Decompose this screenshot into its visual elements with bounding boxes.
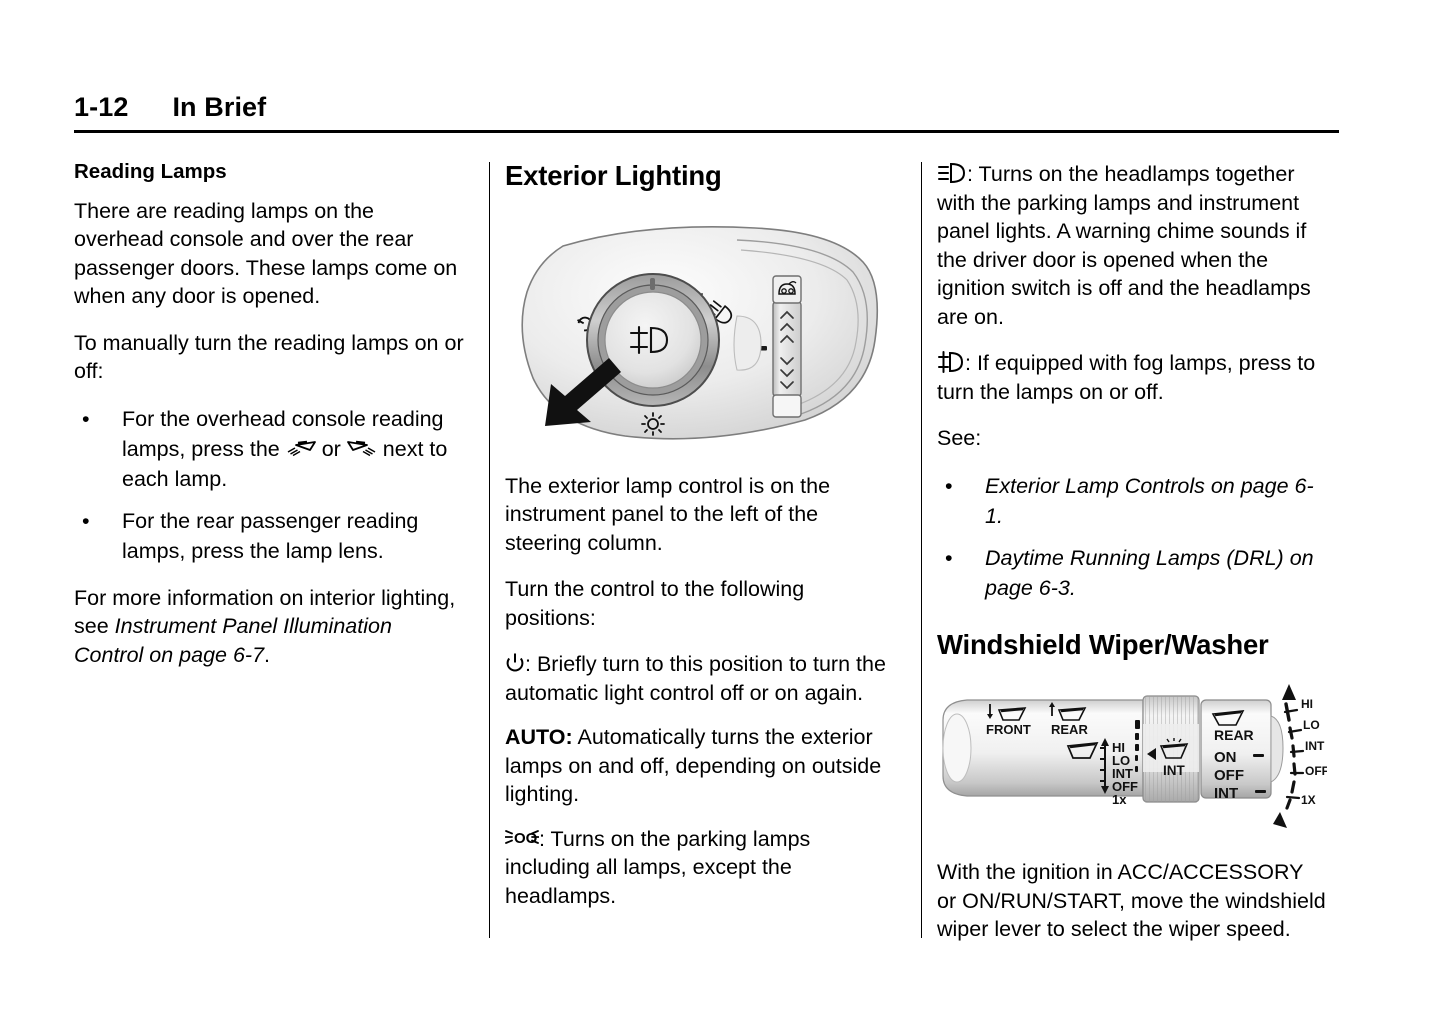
column-2: Exterior Lighting xyxy=(505,160,895,950)
bullet-text: For the rear passenger reading lamps, pr… xyxy=(122,509,418,563)
parking-lamps-icon: OO xyxy=(505,827,539,849)
rear-band-on: ON xyxy=(1214,749,1237,766)
reading-lamps-bullet-list: • For the overhead console reading lamps… xyxy=(74,404,464,566)
windshield-wiper-washer-heading: Windshield Wiper/Washer xyxy=(937,629,1327,661)
outer-scale-1x: 1X xyxy=(1301,793,1316,807)
reading-lamps-heading: Reading Lamps xyxy=(74,160,464,185)
outer-scale-hi: HI xyxy=(1301,697,1313,711)
knob-int-label: INT xyxy=(1163,763,1186,778)
reading-lamps-paragraph-3: For more information on interior lightin… xyxy=(74,584,464,670)
column-divider-2 xyxy=(921,162,922,938)
scale-label-1x: 1x xyxy=(1112,792,1127,807)
rear-band-label: REAR xyxy=(1214,727,1254,743)
list-item: • Exterior Lamp Controls on page 6-1. xyxy=(937,471,1327,531)
page-title: In Brief xyxy=(172,92,266,123)
rear-band-off: OFF xyxy=(1214,767,1244,784)
definition-headlamps-position: : Turns on the headlamps together with t… xyxy=(937,160,1327,331)
outer-scale-lo: LO xyxy=(1303,718,1320,732)
wiper-washer-paragraph-1: With the ignition in ACC/ACCESSORY or ON… xyxy=(937,858,1327,944)
manual-page: 1-12 In Brief Reading Lamps There are re… xyxy=(0,0,1445,1026)
washer-front-label: FRONT xyxy=(986,722,1031,737)
exterior-lighting-heading: Exterior Lighting xyxy=(505,160,895,192)
fog-lamp-icon xyxy=(937,351,965,373)
page-number: 1-12 xyxy=(74,92,128,123)
cross-reference-link[interactable]: Daytime Running Lamps (DRL) on page 6-3. xyxy=(985,546,1314,600)
column-1: Reading Lamps There are reading lamps on… xyxy=(74,160,464,950)
headlamps-icon xyxy=(937,162,967,184)
power-icon xyxy=(505,652,525,674)
rear-band-int: INT xyxy=(1214,785,1238,802)
reading-lamp-right-icon xyxy=(347,437,377,459)
bullet-marker: • xyxy=(82,506,90,536)
exterior-lighting-paragraph-2: Turn the control to the following positi… xyxy=(505,575,895,632)
reading-lamps-paragraph-2: To manually turn the reading lamps on or… xyxy=(74,329,464,386)
cross-reference-link[interactable]: Instrument Panel Illumination Control on… xyxy=(74,614,392,667)
column-3: : Turns on the headlamps together with t… xyxy=(937,160,1327,950)
bullet-marker: • xyxy=(945,543,953,573)
cross-reference-period: . xyxy=(264,643,270,667)
washer-rear-label: REAR xyxy=(1051,722,1088,737)
bullet-marker: • xyxy=(82,404,90,434)
list-item: • For the rear passenger reading lamps, … xyxy=(74,506,464,566)
header-row: 1-12 In Brief xyxy=(74,92,1339,123)
page-header: 1-12 In Brief xyxy=(74,92,1339,133)
see-also-list: • Exterior Lamp Controls on page 6-1. • … xyxy=(937,471,1327,603)
exterior-lighting-paragraph-1: The exterior lamp control is on the inst… xyxy=(505,472,895,558)
definition-fog-lamps-text: : If equipped with fog lamps, press to t… xyxy=(937,351,1315,404)
header-rule xyxy=(74,130,1339,133)
outer-scale-int: INT xyxy=(1305,739,1325,753)
reading-lamps-paragraph-1: There are reading lamps on the overhead … xyxy=(74,197,464,311)
cross-reference-link[interactable]: Exterior Lamp Controls on page 6-1. xyxy=(985,474,1314,528)
content-columns: Reading Lamps There are reading lamps on… xyxy=(74,160,1342,950)
column-divider-1 xyxy=(489,162,490,938)
definition-fog-lamps-position: : If equipped with fog lamps, press to t… xyxy=(937,349,1327,406)
list-item: • For the overhead console reading lamps… xyxy=(74,404,464,494)
definition-auto-position: AUTO: Automatically turns the exterior l… xyxy=(505,723,895,809)
bullet-marker: • xyxy=(945,471,953,501)
reading-lamp-left-icon xyxy=(286,437,316,459)
exterior-lamp-rotary-knob xyxy=(587,274,719,406)
definition-parking-lamps-text: : Turns on the parking lamps including a… xyxy=(505,827,810,908)
windshield-wiper-lever-illustration: FRONT REAR xyxy=(937,680,1327,832)
definition-parking-lamps-position: OO : Turns on the parking lamps includin… xyxy=(505,825,895,911)
outer-scale-off: OFF xyxy=(1305,764,1327,778)
definition-power-text: : Briefly turn to this position to turn … xyxy=(505,652,886,705)
definition-power-position: : Briefly turn to this position to turn … xyxy=(505,650,895,707)
definition-headlamps-text: : Turns on the headlamps together with t… xyxy=(937,162,1311,329)
definition-auto-label: AUTO: xyxy=(505,725,573,749)
exterior-lamp-control-illustration: AUTO OO xyxy=(505,218,895,450)
list-item: • Daytime Running Lamps (DRL) on page 6-… xyxy=(937,543,1327,603)
see-also-label: See: xyxy=(937,424,1327,453)
bullet-text-part-2: or xyxy=(322,437,341,461)
